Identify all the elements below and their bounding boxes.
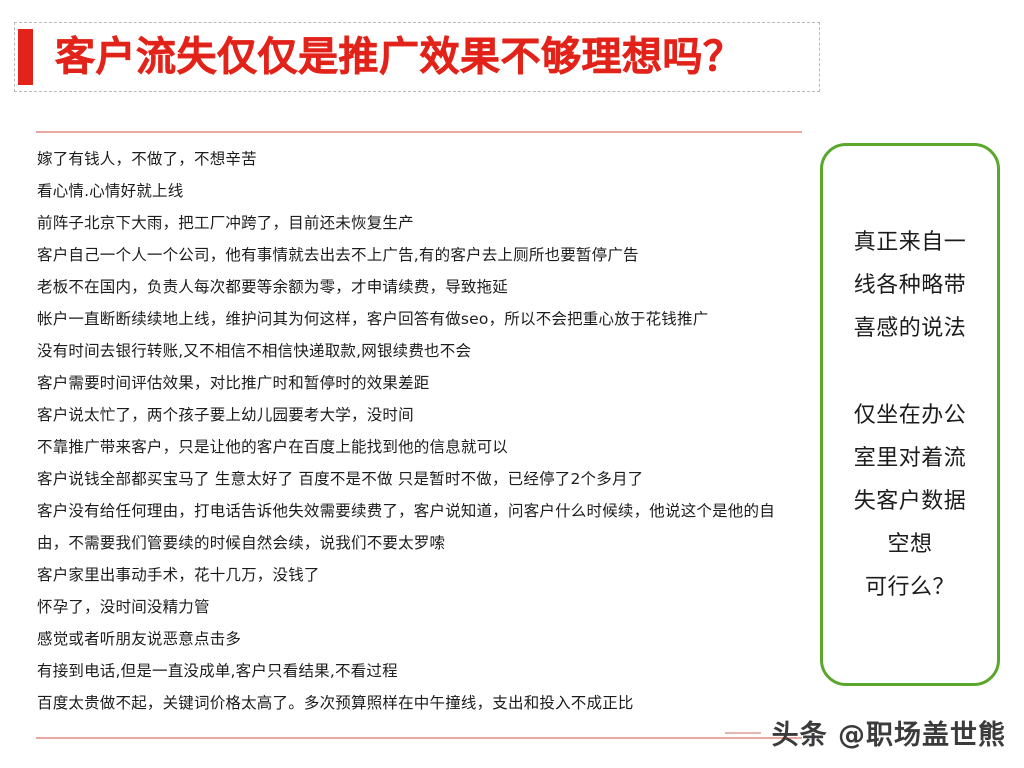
callout-line: 喜感的说法 bbox=[823, 307, 997, 350]
callout-line: 室里对着流 bbox=[823, 437, 997, 480]
quote-line: 感觉或者听朋友说恶意点击多 bbox=[37, 623, 802, 655]
quote-line: 老板不在国内，负责人每次都要等余额为零，才申请续费，导致拖延 bbox=[37, 271, 802, 303]
divider-bottom bbox=[36, 737, 802, 739]
callout-paragraph-1: 真正来自一线各种略带喜感的说法 bbox=[823, 221, 997, 350]
watermark-dash-icon bbox=[725, 732, 761, 734]
quote-line: 客户没有给任何理由，打电话告诉他失效需要续费了，客户说知道，问客户什么时候续，他… bbox=[37, 495, 802, 559]
callout-line: 失客户数据 bbox=[823, 480, 997, 523]
quote-line: 不靠推广带来客户，只是让他的客户在百度上能找到他的信息就可以 bbox=[37, 431, 802, 463]
quote-line: 客户自己一个人一个公司，他有事情就去出去不上广告,有的客户去上厕所也要暂停广告 bbox=[37, 239, 802, 271]
quote-line: 有接到电话,但是一直没成单,客户只看结果,不看过程 bbox=[37, 655, 802, 687]
callout-paragraph-2: 仅坐在办公室里对着流失客户数据空想可行么？ bbox=[823, 394, 997, 609]
title-block: 客户流失仅仅是推广效果不够理想吗？ bbox=[14, 22, 820, 92]
quote-line: 没有时间去银行转账,又不相信不相信快递取款,网银续费也不会 bbox=[37, 335, 802, 367]
quote-panel: 嫁了有钱人，不做了，不想辛苦看心情.心情好就上线前阵子北京下大雨，把工厂冲跨了，… bbox=[36, 131, 802, 739]
callout-line: 仅坐在办公 bbox=[823, 394, 997, 437]
quote-line: 客户说太忙了，两个孩子要上幼儿园要考大学，没时间 bbox=[37, 399, 802, 431]
watermark: 头条 @职场盖世熊 bbox=[725, 713, 1006, 752]
callout-line: 可行么？ bbox=[823, 566, 997, 609]
callout-box: 真正来自一线各种略带喜感的说法 仅坐在办公室里对着流失客户数据空想可行么？ bbox=[820, 143, 1000, 686]
quote-line: 客户需要时间评估效果，对比推广时和暂停时的效果差距 bbox=[37, 367, 802, 399]
quote-line: 嫁了有钱人，不做了，不想辛苦 bbox=[37, 143, 802, 175]
quote-line: 帐户一直断断续续地上线，维护问其为何这样，客户回答有做seo，所以不会把重心放于… bbox=[37, 303, 802, 335]
divider-top bbox=[36, 131, 802, 133]
page-title: 客户流失仅仅是推广效果不够理想吗？ bbox=[55, 37, 744, 77]
watermark-text: 头条 @职场盖世熊 bbox=[772, 713, 1006, 752]
quote-line: 百度太贵做不起，关键词价格太高了。多次预算照样在中午撞线，支出和投入不成正比 bbox=[37, 687, 802, 719]
callout-line: 真正来自一 bbox=[823, 221, 997, 264]
quote-list: 嫁了有钱人，不做了，不想辛苦看心情.心情好就上线前阵子北京下大雨，把工厂冲跨了，… bbox=[37, 143, 802, 719]
quote-line: 客户说钱全部都买宝马了 生意太好了 百度不是不做 只是暂时不做，已经停了2个多月… bbox=[37, 463, 802, 495]
quote-line: 客户家里出事动手术，花十几万，没钱了 bbox=[37, 559, 802, 591]
quote-line: 怀孕了，没时间没精力管 bbox=[37, 591, 802, 623]
quote-line: 看心情.心情好就上线 bbox=[37, 175, 802, 207]
quote-line: 前阵子北京下大雨，把工厂冲跨了，目前还未恢复生产 bbox=[37, 207, 802, 239]
callout-line: 线各种略带 bbox=[823, 264, 997, 307]
callout-line: 空想 bbox=[823, 523, 997, 566]
title-accent-bar bbox=[18, 29, 33, 85]
